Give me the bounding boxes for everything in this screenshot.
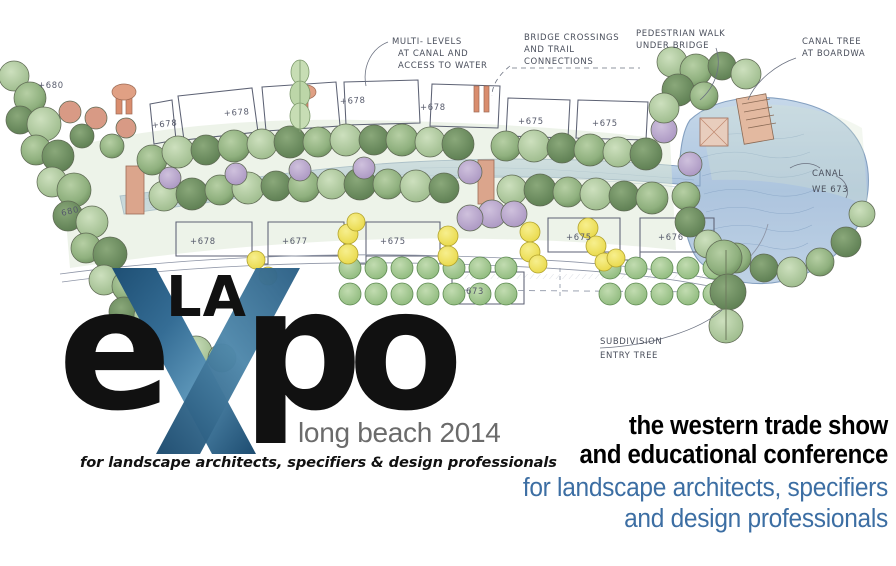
spot-elevation: +676 [658, 232, 684, 242]
promo-headline-line-2: and educational conference [493, 441, 888, 470]
spot-elevation: +678 [190, 236, 216, 246]
subdivision-entry-tree-cluster [706, 240, 746, 343]
expo-poster: MULTI- LEVELS AT CANAL AND ACCESS TO WAT… [0, 0, 896, 566]
annotation-line: ENTRY TREE [600, 351, 658, 361]
spot-elevation: +675 [592, 118, 618, 128]
annotation-line: AT BOARDWA [802, 49, 865, 59]
annotation-line: CANAL [812, 169, 844, 179]
annotation-multi-levels: MULTI- LEVELS AT CANAL AND ACCESS TO WAT… [392, 37, 488, 71]
spot-elevation: +677 [282, 236, 308, 246]
upper-accent-tree [290, 60, 310, 132]
logo-tagline: for landscape architects, specifiers & d… [80, 454, 500, 471]
spot-elevation: +678 [420, 102, 446, 112]
spot-elevation: +675 [518, 116, 544, 126]
annotation-subdivision-entry-tree: SUBDIVISION ENTRY TREE [600, 337, 662, 361]
promo-text-block: the western trade show and educational c… [468, 412, 888, 535]
promo-subhead-line-1: for landscape architects, specifiers [485, 473, 888, 504]
annotation-line: SUBDIVISION [600, 337, 662, 347]
annotation-pedestrian-walk: PEDESTRIAN WALK UNDER BRIDGE [636, 29, 725, 51]
expo-logo: e x p o LA long beach 2014 for landscape… [60, 258, 500, 488]
annotation-bridge-crossings: BRIDGE CROSSINGS AND TRAIL CONNECTIONS [524, 33, 619, 67]
annotation-line: MULTI- LEVELS [392, 37, 462, 47]
promo-headline-line-1: the western trade show [493, 412, 888, 441]
spot-elevation: +675 [566, 232, 592, 242]
promo-subhead-line-2: and design professionals [485, 504, 888, 535]
spot-elevation: +678 [151, 117, 178, 130]
spot-elevation: +680 [38, 80, 64, 90]
annotation-canal-tree: CANAL TREE AT BOARDWA [802, 37, 865, 59]
annotation-line: CONNECTIONS [524, 57, 593, 67]
spot-elevation: +678 [340, 95, 366, 106]
annotation-line: AND TRAIL [524, 45, 575, 55]
expo-logo-artwork: e x p o LA long beach 2014 [60, 258, 500, 458]
logo-superscript-la: LA [166, 265, 247, 330]
spot-elevation: +675 [380, 236, 406, 246]
annotation-line: WE 673 [812, 185, 848, 195]
annotation-line: AT CANAL AND [398, 49, 468, 59]
annotation-line: CANAL TREE [802, 37, 861, 47]
annotation-line: BRIDGE CROSSINGS [524, 33, 619, 43]
annotation-line: ACCESS TO WATER [398, 61, 488, 71]
annotation-line: UNDER BRIDGE [636, 41, 709, 51]
annotation-line: PEDESTRIAN WALK [636, 29, 725, 39]
spot-elevation: +678 [223, 106, 249, 118]
